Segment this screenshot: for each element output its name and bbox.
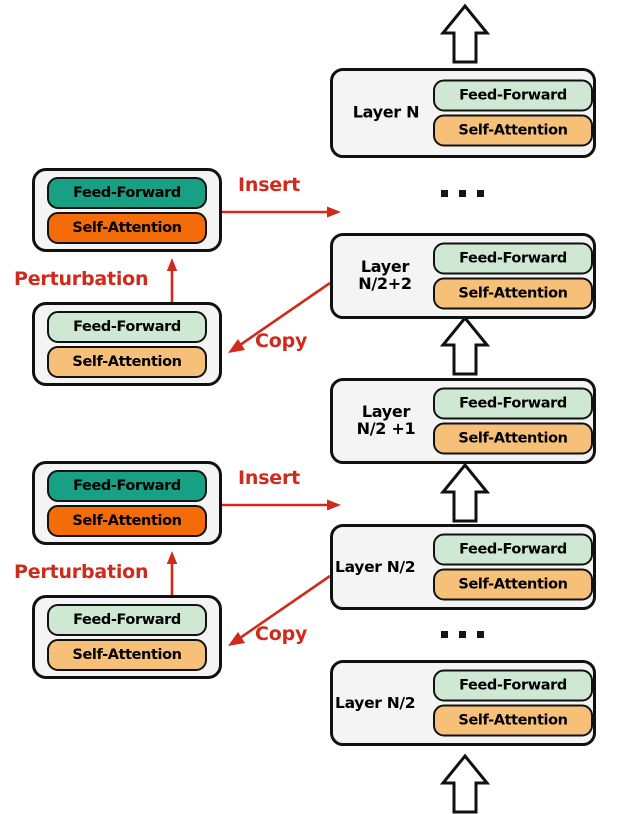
- sublayer-group-layer-n2-plus-2: Feed-Forward Self-Attention: [433, 243, 593, 310]
- self-attention-block[interactable]: Self-Attention: [47, 639, 207, 671]
- copied-card-upper[interactable]: Feed-Forward Self-Attention: [32, 302, 222, 386]
- perturbation-annotation-lower: Perturbation: [14, 561, 148, 583]
- flow-arrow-bottom: [443, 756, 487, 812]
- layer-label-layer-n2-plus-2: Layer N/2+2: [341, 259, 429, 293]
- copy-annotation-upper: Copy: [255, 330, 307, 352]
- self-attention-block[interactable]: Self-Attention: [433, 423, 593, 455]
- feed-forward-block[interactable]: Feed-Forward: [433, 80, 593, 112]
- sublayer-group-layer-n2-lower: Feed-Forward Self-Attention: [433, 670, 593, 737]
- layer-box-layer-n2-plus-1[interactable]: Layer N/2 +1 Feed-Forward Self-Attention: [330, 378, 596, 464]
- stack-ellipsis-upper: [441, 190, 484, 197]
- layer-label-layer-n2-upper: Layer N/2: [331, 559, 439, 575]
- self-attention-block[interactable]: Self-Attention: [433, 569, 593, 601]
- layer-label-layer-n2-lower: Layer N/2: [331, 695, 439, 711]
- flow-arrow-n2plus1: [443, 465, 487, 521]
- insert-arrow-lower: [222, 500, 341, 511]
- self-attention-block[interactable]: Self-Attention: [433, 278, 593, 310]
- sublayer-group-layer-n: Feed-Forward Self-Attention: [433, 80, 593, 147]
- feed-forward-block[interactable]: Feed-Forward: [47, 470, 207, 502]
- ellipsis-dot: [441, 631, 448, 638]
- sublayer-group-layer-n2-plus-1: Feed-Forward Self-Attention: [433, 388, 593, 455]
- layer-box-layer-n2-plus-2[interactable]: Layer N/2+2 Feed-Forward Self-Attention: [330, 233, 596, 319]
- ellipsis-dot: [477, 190, 484, 197]
- diagram-canvas: Layer N Feed-Forward Self-Attention Laye…: [0, 0, 623, 814]
- self-attention-block[interactable]: Self-Attention: [47, 212, 207, 244]
- perturbed-card-lower[interactable]: Feed-Forward Self-Attention: [32, 461, 222, 545]
- perturbed-card-upper[interactable]: Feed-Forward Self-Attention: [32, 168, 222, 252]
- insert-annotation-upper: Insert: [238, 174, 300, 196]
- sublayer-group-layer-n2-upper: Feed-Forward Self-Attention: [433, 534, 593, 601]
- ellipsis-dot: [459, 631, 466, 638]
- layer-box-layer-n2-lower[interactable]: Layer N/2 Feed-Forward Self-Attention: [330, 660, 596, 746]
- feed-forward-block[interactable]: Feed-Forward: [433, 670, 593, 702]
- perturbation-arrow-lower: [167, 551, 177, 596]
- perturbation-annotation-upper: Perturbation: [14, 268, 148, 290]
- ellipsis-dot: [477, 631, 484, 638]
- layer-box-layer-n[interactable]: Layer N Feed-Forward Self-Attention: [330, 68, 596, 158]
- layer-label-layer-n: Layer N: [343, 105, 429, 122]
- stack-ellipsis-lower: [441, 631, 484, 638]
- layer-box-layer-n2-upper[interactable]: Layer N/2 Feed-Forward Self-Attention: [330, 524, 596, 610]
- insert-annotation-lower: Insert: [238, 467, 300, 489]
- self-attention-block[interactable]: Self-Attention: [433, 705, 593, 737]
- copied-card-lower[interactable]: Feed-Forward Self-Attention: [32, 595, 222, 679]
- feed-forward-block[interactable]: Feed-Forward: [47, 604, 207, 636]
- self-attention-block[interactable]: Self-Attention: [47, 505, 207, 537]
- self-attention-block[interactable]: Self-Attention: [47, 346, 207, 378]
- feed-forward-block[interactable]: Feed-Forward: [433, 388, 593, 420]
- feed-forward-block[interactable]: Feed-Forward: [433, 534, 593, 566]
- layer-label-layer-n2-plus-1: Layer N/2 +1: [341, 404, 431, 438]
- feed-forward-block[interactable]: Feed-Forward: [47, 311, 207, 343]
- feed-forward-block[interactable]: Feed-Forward: [433, 243, 593, 275]
- self-attention-block[interactable]: Self-Attention: [433, 115, 593, 147]
- ellipsis-dot: [441, 190, 448, 197]
- feed-forward-block[interactable]: Feed-Forward: [47, 177, 207, 209]
- flow-arrow-top: [443, 6, 487, 62]
- ellipsis-dot: [459, 190, 466, 197]
- copy-annotation-lower: Copy: [255, 623, 307, 645]
- perturbation-arrow-upper: [167, 258, 177, 303]
- flow-arrow-n2plus2: [443, 318, 487, 374]
- insert-arrow-upper: [222, 207, 341, 218]
